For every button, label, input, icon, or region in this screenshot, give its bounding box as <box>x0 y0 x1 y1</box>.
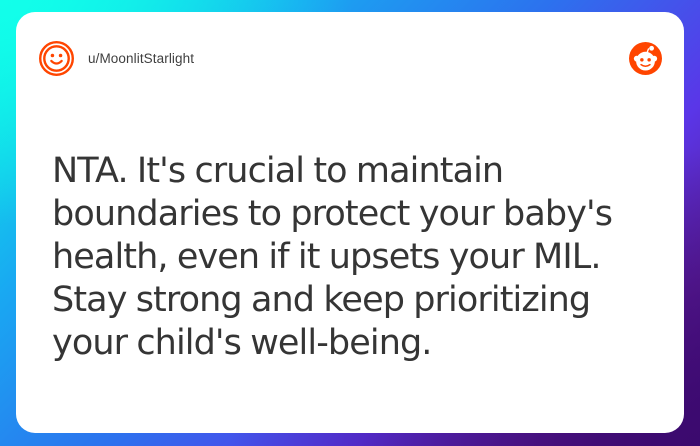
card-header: u/MoonlitStarlight <box>16 12 684 104</box>
screenshot-canvas: u/MoonlitStarlight NTA. It's crucial to … <box>0 0 700 446</box>
author-block[interactable]: u/MoonlitStarlight <box>38 40 629 77</box>
comment-text: NTA. It's crucial to maintain boundaries… <box>52 150 660 365</box>
smiley-face-avatar-icon <box>38 40 75 77</box>
reddit-snoo-icon[interactable] <box>629 42 662 75</box>
author-username: u/MoonlitStarlight <box>88 51 194 66</box>
reddit-comment-card: u/MoonlitStarlight NTA. It's crucial to … <box>16 12 684 433</box>
card-body: NTA. It's crucial to maintain boundaries… <box>52 150 660 365</box>
